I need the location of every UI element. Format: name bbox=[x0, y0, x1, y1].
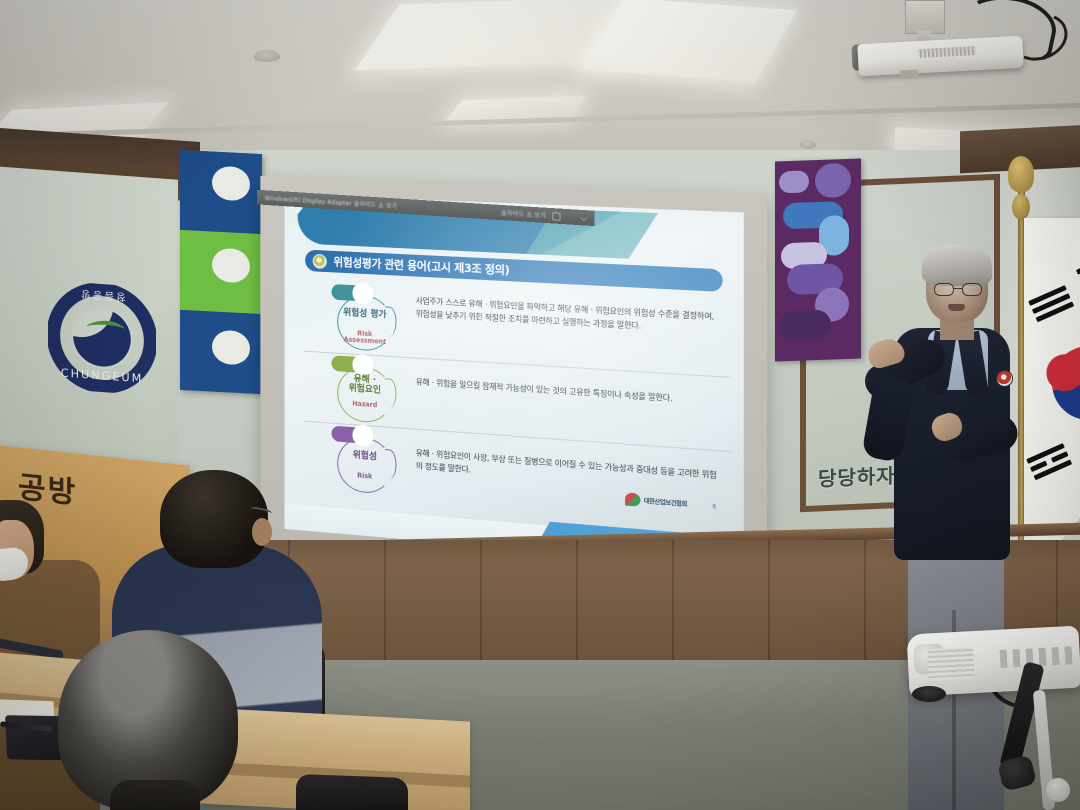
smoke-detector-icon bbox=[800, 140, 816, 149]
flag-finial bbox=[1008, 156, 1034, 192]
term-badge: 02 유해 · 위험요인 Hazard bbox=[330, 357, 403, 425]
association-logo-icon bbox=[625, 492, 640, 506]
glasses-icon bbox=[934, 283, 982, 296]
ministry-emblem-icon bbox=[313, 253, 327, 268]
term-badge: 01 위험성 평가 Risk Assessment bbox=[330, 286, 403, 353]
monitor-icon[interactable] bbox=[552, 212, 560, 221]
term-description: 사업주가 스스로 유해 · 위험요인을 파악하고 해당 유해 · 위험요인의 위… bbox=[416, 295, 719, 337]
chungeum-logo: CHUNGEUM 청음공방 bbox=[48, 280, 156, 396]
trigram-geon bbox=[1028, 285, 1076, 326]
presenter-mouth bbox=[948, 304, 965, 311]
projection-screen-surface: 위험성평가 관련 용어(고시 제3조 정의) 01 위험성 평가 Risk bbox=[285, 194, 744, 568]
smoke-detector-icon bbox=[254, 50, 280, 62]
slide-footer-logo-text: 대한산업보건협회 bbox=[644, 496, 687, 509]
term-description: 유해 · 위험을 일으킬 잠재적 가능성이 있는 것의 고유한 특징이나 속성을… bbox=[416, 376, 719, 409]
office-chair bbox=[296, 774, 408, 810]
term-name-en: Risk Assessment bbox=[330, 329, 401, 347]
taegeuk-symbol bbox=[1041, 335, 1080, 431]
lecture-room-photo: CHUNGEUM 청음공방 당당하자 자존심 bbox=[0, 0, 1080, 810]
projector-foot bbox=[912, 686, 946, 702]
term-badge: 03 위험성 Risk bbox=[330, 427, 403, 495]
tripod-adjust-knob[interactable] bbox=[1046, 778, 1070, 802]
presenter-sleeve-badge bbox=[996, 370, 1013, 387]
slide-page-number: 6 bbox=[712, 503, 716, 511]
projector-foot bbox=[900, 70, 918, 80]
projector-ceiling-mount bbox=[905, 0, 945, 34]
flag-cloth bbox=[1024, 218, 1080, 548]
attendee-ear bbox=[252, 518, 272, 546]
ceiling-light-panel bbox=[583, 0, 797, 82]
projector-vent bbox=[918, 46, 976, 58]
pointer-icon[interactable] bbox=[565, 212, 576, 223]
trigram-ri bbox=[1076, 256, 1080, 294]
presenter-hair bbox=[922, 244, 992, 286]
blue-green-banner bbox=[180, 150, 262, 394]
term-description: 유해 · 위험요인이 사망, 부상 또는 질병으로 이어질 수 있는 가능성과 … bbox=[416, 447, 719, 496]
slide-title: 위험성평가 관련 용어(고시 제3조 정의) bbox=[333, 254, 509, 278]
projection-screen: 위험성평가 관련 용어(고시 제3조 정의) 01 위험성 평가 Risk bbox=[260, 176, 767, 594]
term-number: 03 bbox=[352, 424, 373, 447]
flag-finial-lower bbox=[1012, 194, 1030, 220]
projector-vent bbox=[927, 647, 975, 681]
attendee-grey-hair-neck bbox=[110, 780, 200, 810]
powerpoint-slide: 위험성평가 관련 용어(고시 제3조 정의) 01 위험성 평가 Risk bbox=[285, 194, 744, 568]
trigram-gam bbox=[1026, 443, 1074, 484]
attendee-head bbox=[160, 470, 268, 568]
purple-banner bbox=[775, 158, 861, 361]
term-number: 01 bbox=[352, 282, 373, 305]
slide-term-list: 01 위험성 평가 Risk Assessment 사업주가 스스로 유해 · … bbox=[303, 281, 731, 526]
chevron-down-icon[interactable] bbox=[580, 214, 587, 221]
ppt-controls-text: 슬라이드 쇼 보기 bbox=[501, 208, 546, 220]
